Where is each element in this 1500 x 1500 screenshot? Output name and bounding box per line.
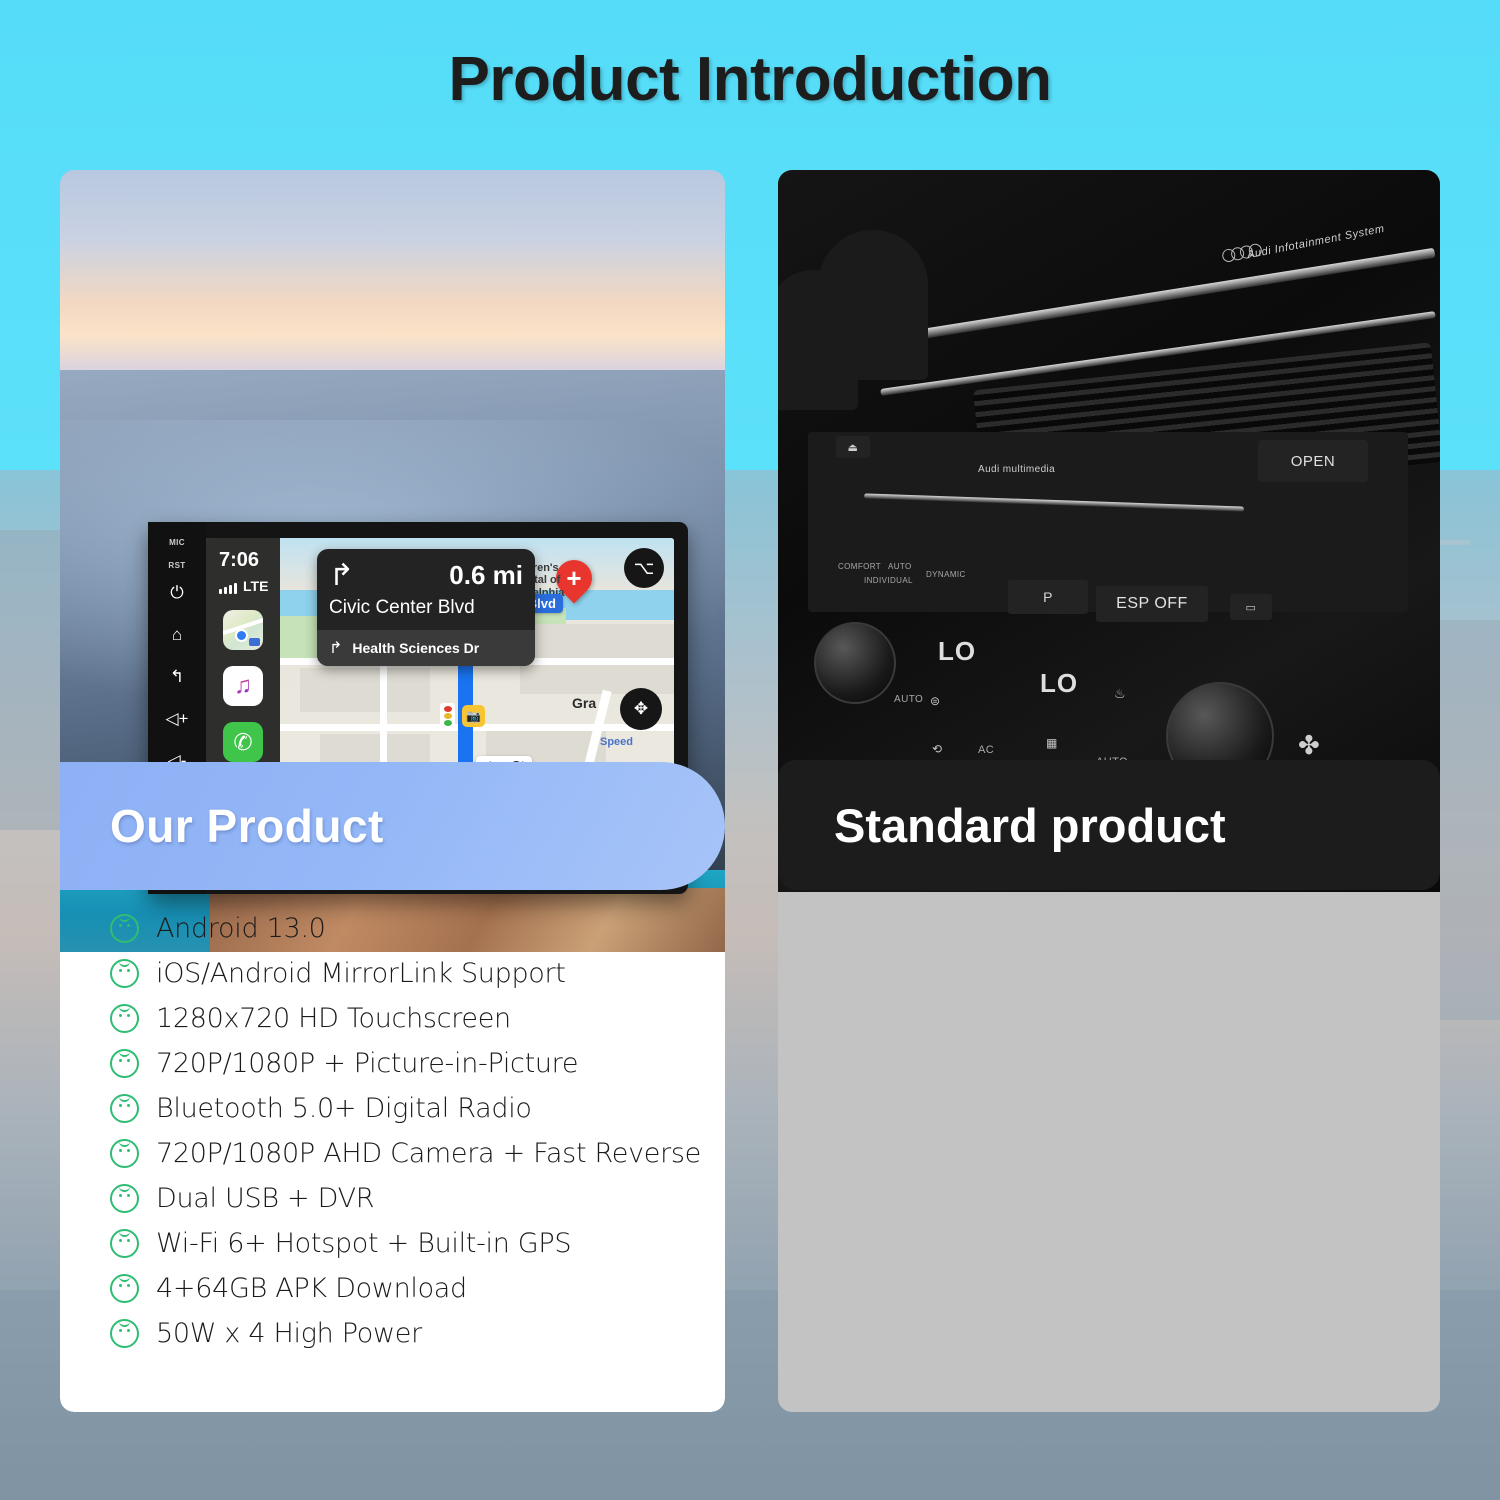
signal-strength-icon: LTE — [219, 578, 280, 594]
volume-up-icon[interactable]: ◁+ — [165, 710, 188, 727]
feature-label: 1280x720 HD Touchscreen — [156, 1003, 511, 1034]
drive-mode-individual: INDIVIDUAL — [864, 576, 913, 585]
map-block — [300, 668, 430, 712]
hazard-button[interactable]: ▭ — [1230, 594, 1272, 620]
smiley-face-icon — [110, 914, 139, 943]
feature-label: 720P/1080P AHD Camera + Fast Reverse — [156, 1138, 701, 1169]
poi-speed-label: Speed — [600, 736, 633, 748]
rear-defrost-icon: ▦ — [1046, 736, 1058, 750]
our-product-badge: Our Product — [60, 762, 725, 890]
maps-app-icon[interactable] — [223, 610, 263, 650]
feature-row: 720P/1080P AHD Camera + Fast Reverse — [60, 1131, 725, 1176]
smiley-face-icon — [110, 1139, 139, 1168]
climate-ac-label: AC — [978, 744, 994, 756]
phone-app-icon[interactable]: ✆ — [223, 722, 263, 762]
smiley-face-icon — [110, 1049, 139, 1078]
temperature-knob-left[interactable] — [814, 622, 896, 704]
power-icon[interactable]: ⏻ — [170, 584, 183, 601]
turn-right-icon: ↱ — [329, 561, 381, 591]
page-title: Product Introduction — [0, 44, 1500, 115]
pan-icon[interactable]: ✥ — [620, 688, 662, 730]
seat-heat-icon: ♨ — [1114, 686, 1126, 702]
feature-row: 1280x720 HD Touchscreen — [60, 996, 725, 1041]
park-assist-button[interactable]: P — [1008, 580, 1088, 614]
gauge-pod — [778, 270, 858, 410]
turn-street-name: Civic Center Blvd — [317, 595, 535, 630]
recirculate-icon: ⟲ — [932, 742, 942, 756]
poi-grand-label: Gra — [572, 696, 596, 712]
standard-product-badge: Standard product — [778, 760, 1440, 890]
feature-row: iOS/Android MirrorLink Support — [60, 951, 725, 996]
mic-label: MIC — [169, 538, 185, 547]
feature-row: 720P/1080P + Picture-in-Picture — [60, 1041, 725, 1086]
turn-distance: 0.6 mi — [381, 560, 523, 591]
feature-row: 4+64GB APK Download — [60, 1266, 725, 1311]
feature-label: 4+64GB APK Download — [156, 1273, 467, 1304]
speed-camera-icon: 📷 — [462, 705, 485, 727]
music-app-icon[interactable]: ♫ — [223, 666, 263, 706]
feature-label: 50W x 4 High Power — [156, 1318, 422, 1349]
photo-sky — [60, 170, 725, 400]
drive-mode-comfort: COMFORT — [838, 562, 881, 571]
audi-brand-label: Audi Infotainment System — [1246, 223, 1385, 261]
smiley-face-icon — [110, 1184, 139, 1213]
back-icon[interactable]: ↰ — [170, 668, 184, 685]
next-street-name: Health Sciences Dr — [352, 640, 479, 656]
feature-row: Bluetooth 5.0+ Digital Radio — [60, 1086, 725, 1131]
climate-auto-label: AUTO — [894, 694, 923, 705]
climate-right-display: LO — [1040, 668, 1078, 699]
feature-label: 720P/1080P + Picture-in-Picture — [156, 1048, 578, 1079]
traffic-light-icon — [440, 703, 455, 729]
fan-icon: ✤ — [1298, 730, 1320, 761]
feature-label: Android 13.0 — [156, 913, 326, 944]
esp-off-button[interactable]: ESP OFF — [1096, 586, 1208, 622]
our-product-badge-label: Our Product — [110, 799, 384, 853]
feature-row: 50W x 4 High Power — [60, 1311, 725, 1356]
eject-button[interactable]: ⏏ — [836, 436, 870, 458]
defrost-icon: ⊜ — [930, 694, 940, 708]
home-icon[interactable]: ⌂ — [172, 626, 182, 643]
climate-left-display: LO — [938, 636, 976, 667]
turn-right-small-icon: ↱ — [329, 638, 342, 658]
smiley-face-icon — [110, 1274, 139, 1303]
smiley-face-icon — [110, 1229, 139, 1258]
smiley-face-icon — [110, 959, 139, 988]
smiley-face-icon — [110, 1319, 139, 1348]
feature-row: Android 13.0 — [60, 906, 725, 951]
standard-product-badge-label: Standard product — [834, 798, 1226, 853]
feature-row: Dual USB + DVR — [60, 1176, 725, 1221]
route-overview-icon[interactable]: ⌥ — [624, 548, 664, 588]
next-turn-row: ↱ Health Sciences Dr — [317, 630, 535, 666]
feature-label: Dual USB + DVR — [156, 1183, 374, 1214]
audi-multimedia-label: Audi multimedia — [978, 464, 1055, 475]
carplay-clock: 7:06 — [219, 549, 280, 572]
turn-by-turn-card: ↱ 0.6 mi Civic Center Blvd ↱ Health Scie… — [317, 549, 535, 666]
drive-mode-dynamic: DYNAMIC — [926, 570, 966, 579]
feature-label: Bluetooth 5.0+ Digital Radio — [156, 1093, 532, 1124]
feature-label: Wi-Fi 6+ Hotspot + Built-in GPS — [156, 1228, 571, 1259]
feature-label: iOS/Android MirrorLink Support — [156, 958, 566, 989]
reset-label: RST — [168, 561, 185, 570]
turn-card-top: ↱ 0.6 mi — [317, 549, 535, 595]
network-label: LTE — [243, 578, 268, 594]
smiley-face-icon — [110, 1004, 139, 1033]
smiley-face-icon — [110, 1094, 139, 1123]
drive-mode-auto: AUTO — [888, 562, 912, 571]
feature-row: Wi-Fi 6+ Hotspot + Built-in GPS — [60, 1221, 725, 1266]
open-button[interactable]: OPEN — [1258, 440, 1368, 482]
